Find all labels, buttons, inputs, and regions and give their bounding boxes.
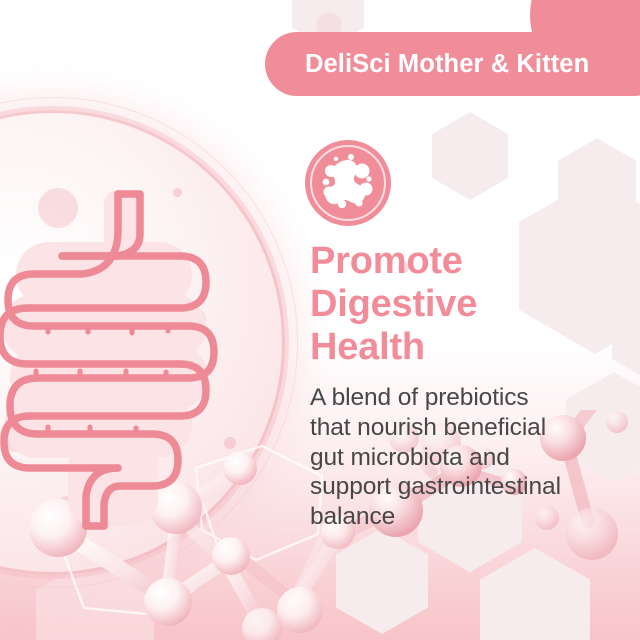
body-line: balance [310, 502, 630, 532]
body-line: gut microbiota and [310, 443, 630, 473]
headline: Promote Digestive Health [310, 240, 630, 369]
body-copy: A blend of prebiotics that nourish benef… [310, 383, 630, 532]
body-line: A blend of prebiotics [310, 383, 630, 413]
poster-canvas: DeliSci Mother & Kitten [0, 0, 640, 640]
molecule-node [144, 578, 192, 626]
headline-line: Digestive [310, 283, 630, 326]
headline-line: Health [310, 326, 630, 369]
body-line: support gastrointestinal [310, 472, 630, 502]
brand-banner: DeliSci Mother & Kitten [265, 32, 640, 96]
body-line: that nourish beneficial [310, 413, 630, 443]
molecule-node [277, 587, 323, 633]
microbiome-blob-icon [305, 140, 391, 226]
copy-block: Promote Digestive Health A blend of preb… [310, 240, 630, 532]
headline-line: Promote [310, 240, 630, 283]
brand-label: DeliSci Mother & Kitten [305, 50, 589, 79]
intestine-illustration [0, 178, 232, 538]
hexagon-decoration [432, 112, 508, 200]
molecule-node [212, 537, 250, 575]
